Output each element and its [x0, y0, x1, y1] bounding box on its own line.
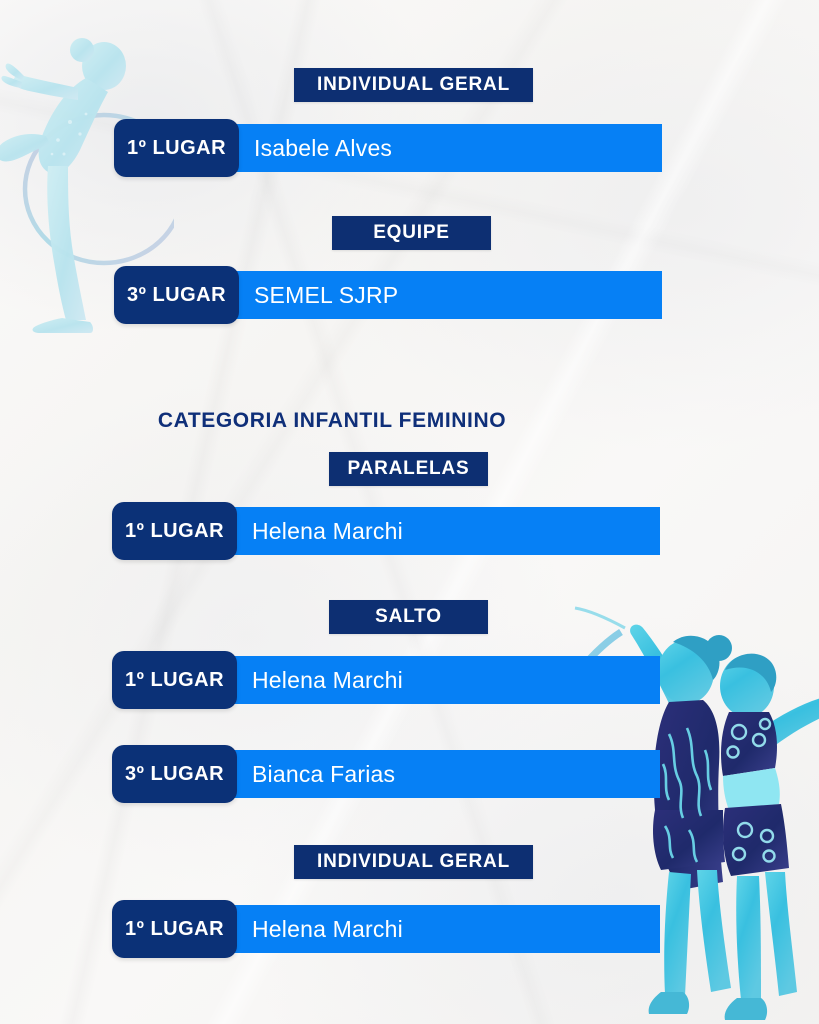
result-bar: Helena Marchi: [174, 507, 660, 555]
result-row[interactable]: SEMEL SJRP 3º LUGAR: [114, 266, 662, 324]
results-poster: INDIVIDUAL GERAL Isabele Alves 1º LUGAR …: [0, 0, 819, 1024]
result-row[interactable]: Helena Marchi 1º LUGAR: [112, 502, 660, 560]
place-badge: 3º LUGAR: [114, 266, 239, 324]
result-bar: SEMEL SJRP: [176, 271, 662, 319]
result-bar: Helena Marchi: [174, 905, 660, 953]
place-badge: 1º LUGAR: [112, 502, 237, 560]
place-badge: 1º LUGAR: [112, 651, 237, 709]
place-badge: 1º LUGAR: [114, 119, 239, 177]
result-row[interactable]: Isabele Alves 1º LUGAR: [114, 119, 662, 177]
event-header-equipe: EQUIPE: [332, 216, 491, 250]
category-title-infantil-feminino: CATEGORIA INFANTIL FEMININO: [0, 409, 664, 433]
event-header-salto: SALTO: [329, 600, 488, 634]
result-row[interactable]: Helena Marchi 1º LUGAR: [112, 651, 660, 709]
event-header-individual-geral-2: INDIVIDUAL GERAL: [294, 845, 533, 879]
event-header-individual-geral-1: INDIVIDUAL GERAL: [294, 68, 533, 102]
result-bar: Isabele Alves: [176, 124, 662, 172]
place-badge: 3º LUGAR: [112, 745, 237, 803]
result-row[interactable]: Bianca Farias 3º LUGAR: [112, 745, 660, 803]
event-header-paralelas: PARALELAS: [329, 452, 488, 486]
place-badge: 1º LUGAR: [112, 900, 237, 958]
result-bar: Bianca Farias: [174, 750, 660, 798]
result-row[interactable]: Helena Marchi 1º LUGAR: [112, 900, 660, 958]
result-bar: Helena Marchi: [174, 656, 660, 704]
